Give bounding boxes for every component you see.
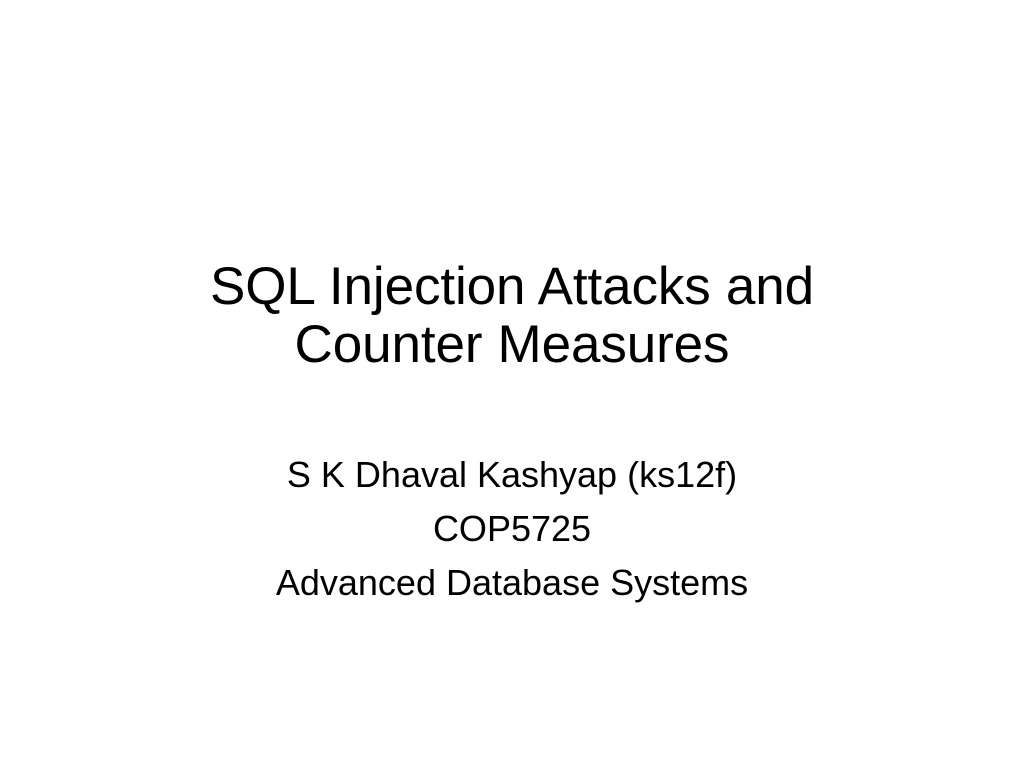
- subtitle-line-course-code: COP5725: [120, 502, 904, 556]
- page-title: SQL Injection Attacks and Counter Measur…: [120, 258, 904, 375]
- slide-canvas: SQL Injection Attacks and Counter Measur…: [0, 0, 1024, 768]
- subtitle-line-author: S K Dhaval Kashyap (ks12f): [120, 448, 904, 502]
- subtitle-line-course-name: Advanced Database Systems: [120, 556, 904, 610]
- subtitle-placeholder: S K Dhaval Kashyap (ks12f) COP5725 Advan…: [120, 448, 904, 610]
- title-placeholder: SQL Injection Attacks and Counter Measur…: [120, 258, 904, 375]
